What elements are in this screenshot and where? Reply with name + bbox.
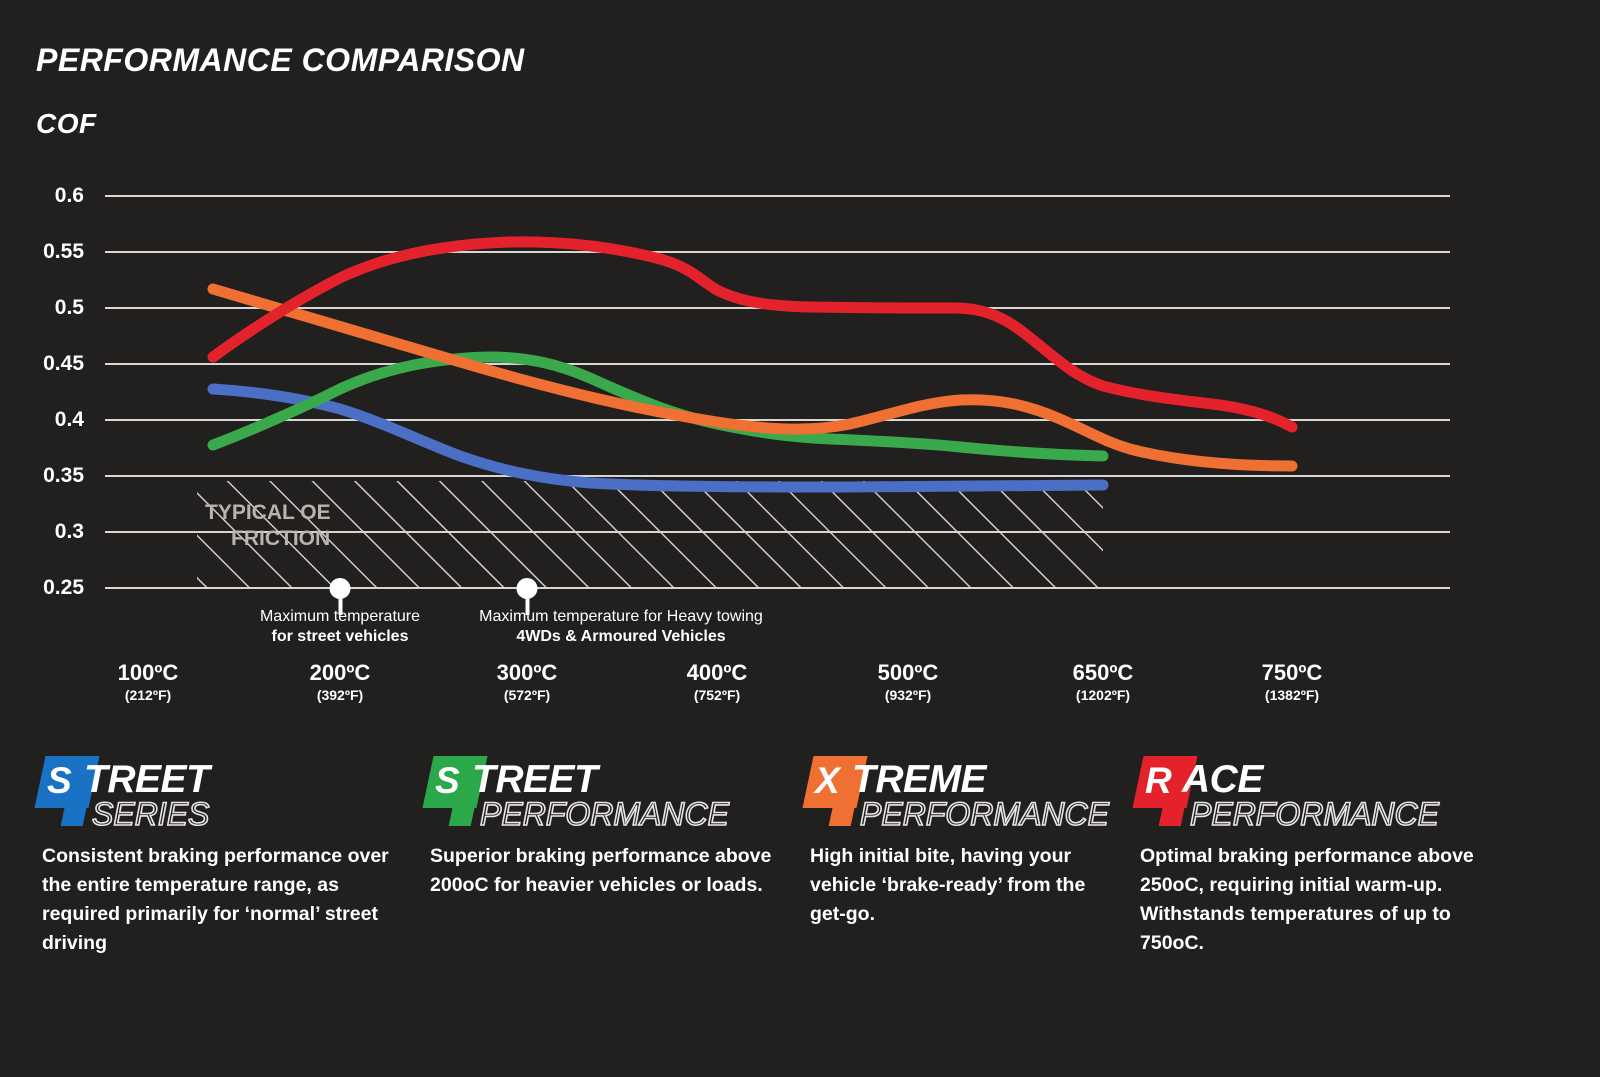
badge-letter: S (47, 760, 71, 802)
marker-label-line2: 4WDs & Armoured Vehicles (411, 627, 831, 647)
x-tick-celsius: 300ºC (427, 660, 627, 686)
x-tick-fahrenheit: (1202ºF) (1003, 686, 1203, 704)
product-description: High initial bite, having your vehicle ‘… (810, 842, 1110, 929)
oe-label-line2: FRICTION (205, 526, 465, 552)
logo-word-secondary: PERFORMANCE (1190, 796, 1439, 833)
marker-label-heavy-towing: Maximum temperature for Heavy towing 4WD… (411, 607, 831, 647)
x-tick-750c: 750ºC (1382ºF) (1192, 660, 1392, 704)
logo-word-secondary: PERFORMANCE (480, 796, 729, 833)
x-tick-celsius: 400ºC (617, 660, 817, 686)
x-tick-fahrenheit: (392ºF) (240, 686, 440, 704)
x-tick-300c: 300ºC (572ºF) (427, 660, 627, 704)
product-description: Optimal braking performance above 250oC,… (1140, 842, 1480, 957)
x-tick-200c: 200ºC (392ºF) (240, 660, 440, 704)
x-tick-celsius: 750ºC (1192, 660, 1392, 686)
x-tick-fahrenheit: (212ºF) (48, 686, 248, 704)
x-tick-400c: 400ºC (752ºF) (617, 660, 817, 704)
y-tick-0.4: 0.4 (10, 408, 84, 432)
product-description: Superior braking performance above 200oC… (430, 842, 785, 900)
x-tick-celsius: 650ºC (1003, 660, 1203, 686)
x-tick-fahrenheit: (752ºF) (617, 686, 817, 704)
y-tick-0.35: 0.35 (10, 464, 84, 488)
y-tick-0.45: 0.45 (10, 352, 84, 376)
x-tick-celsius: 500ºC (808, 660, 1008, 686)
marker-dot-icon (330, 578, 351, 599)
legend-card-race-performance[interactable]: R ACE PERFORMANCE Optimal braking perfor… (1138, 748, 1488, 824)
marker-dot-icon (517, 578, 538, 599)
legend-card-street-series[interactable]: S TREET SERIES Consistent braking perfor… (40, 748, 410, 824)
logo-word-secondary: PERFORMANCE (860, 796, 1109, 833)
logo-race-performance: R ACE PERFORMANCE (1138, 748, 1488, 824)
legend-product-cards: S TREET SERIES Consistent braking perfor… (0, 748, 1600, 1038)
logo-street-performance: S TREET PERFORMANCE (428, 748, 788, 824)
y-tick-0.6: 0.6 (10, 184, 84, 208)
x-tick-500c: 500ºC (932ºF) (808, 660, 1008, 704)
badge-letter: X (815, 760, 839, 802)
x-tick-fahrenheit: (932ºF) (808, 686, 1008, 704)
x-tick-100c: 100ºC (212ºF) (48, 660, 248, 704)
performance-comparison-chart-page: PERFORMANCE COMPARISON COF (0, 0, 1600, 1077)
x-tick-fahrenheit: (572ºF) (427, 686, 627, 704)
marker-label-line1: Maximum temperature for Heavy towing (411, 607, 831, 627)
product-description: Consistent braking performance over the … (42, 842, 402, 957)
legend-card-xtreme-performance[interactable]: X TREME PERFORMANCE High initial bite, h… (808, 748, 1138, 824)
typical-oe-friction-label: TYPICAL OE FRICTION (205, 500, 465, 553)
x-tick-650c: 650ºC (1202ºF) (1003, 660, 1203, 704)
x-tick-fahrenheit: (1382ºF) (1192, 686, 1392, 704)
x-tick-celsius: 100ºC (48, 660, 248, 686)
legend-card-street-performance[interactable]: S TREET PERFORMANCE Superior braking per… (428, 748, 788, 824)
y-tick-0.55: 0.55 (10, 240, 84, 264)
y-tick-0.3: 0.3 (10, 520, 84, 544)
x-tick-celsius: 200ºC (240, 660, 440, 686)
y-tick-0.25: 0.25 (10, 576, 84, 600)
logo-word-secondary: SERIES (92, 796, 209, 833)
logo-xtreme-performance: X TREME PERFORMANCE (808, 748, 1138, 824)
y-tick-0.5: 0.5 (10, 296, 84, 320)
logo-street-series: S TREET SERIES (40, 748, 410, 824)
badge-letter: R (1145, 760, 1171, 802)
badge-letter: S (435, 760, 459, 802)
oe-label-line1: TYPICAL OE (205, 501, 331, 524)
